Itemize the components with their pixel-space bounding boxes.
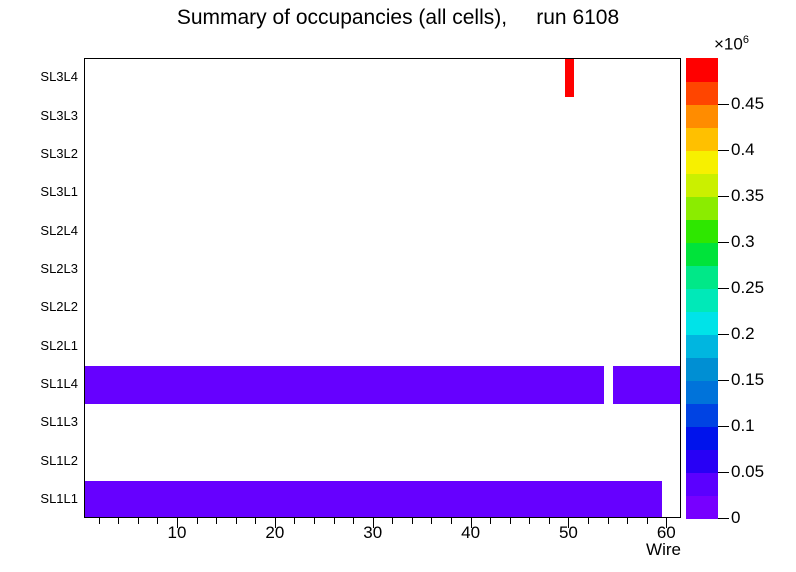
x-axis-tick-minor xyxy=(236,518,237,524)
z-axis-label-0_3: 0.3 xyxy=(731,232,755,252)
page-title: Summary of occupancies (all cells), run … xyxy=(0,6,796,30)
z-axis-tick xyxy=(718,196,729,197)
y-axis-label-sl3l2: SL3L2 xyxy=(0,146,78,161)
x-axis-label-40: 40 xyxy=(441,523,501,543)
heatmap-cell-sl1l4-1 xyxy=(85,366,604,404)
color-bar-band-2 xyxy=(686,449,718,473)
color-bar-band-4 xyxy=(686,403,718,427)
y-axis-label-sl1l4: SL1L4 xyxy=(0,376,78,391)
x-axis-tick-minor xyxy=(138,518,139,524)
color-bar-band-8 xyxy=(686,311,718,335)
x-axis-tick-minor xyxy=(608,518,609,524)
color-bar-band-14 xyxy=(686,173,718,197)
color-bar-band-15 xyxy=(686,150,718,174)
x-axis-label-10: 10 xyxy=(147,523,207,543)
x-axis-tick-minor xyxy=(510,518,511,524)
y-axis-label-sl2l4: SL2L4 xyxy=(0,223,78,238)
z-axis-label-0_1: 0.1 xyxy=(731,416,755,436)
x-axis-label-20: 20 xyxy=(245,523,305,543)
x-axis-tick-minor xyxy=(118,518,119,524)
y-axis-label-sl2l1: SL2L1 xyxy=(0,338,78,353)
z-axis-tick xyxy=(718,104,729,105)
z-axis-tick xyxy=(718,426,729,427)
x-axis-tick-minor xyxy=(529,518,530,524)
z-axis-tick xyxy=(718,472,729,473)
z-axis-tick xyxy=(718,518,729,519)
y-axis-label-sl3l4: SL3L4 xyxy=(0,69,78,84)
z-exponent-prefix: ×10 xyxy=(714,35,743,54)
x-axis-tick-minor xyxy=(314,518,315,524)
color-bar-band-1 xyxy=(686,472,718,496)
z-axis-label-0_4: 0.4 xyxy=(731,140,755,160)
x-axis-tick-minor xyxy=(99,518,100,524)
color-bar-band-6 xyxy=(686,357,718,381)
x-axis-tick-minor xyxy=(412,518,413,524)
color-bar-band-9 xyxy=(686,288,718,312)
color-bar-band-11 xyxy=(686,242,718,266)
x-axis-title: Wire xyxy=(611,540,681,560)
color-bar xyxy=(686,58,718,518)
z-axis-tick xyxy=(718,150,729,151)
heatmap-cell-sl1l1-0 xyxy=(85,481,662,517)
color-bar-band-18 xyxy=(686,81,718,105)
z-axis-label-0_25: 0.25 xyxy=(731,278,764,298)
y-axis-label-sl1l3: SL1L3 xyxy=(0,414,78,429)
color-bar-band-12 xyxy=(686,219,718,243)
z-exponent-value: 6 xyxy=(743,34,749,46)
root-canvas: Summary of occupancies (all cells), run … xyxy=(0,0,796,572)
y-axis-label-sl2l2: SL2L2 xyxy=(0,299,78,314)
plot-frame xyxy=(84,58,681,518)
y-axis-label-sl1l1: SL1L1 xyxy=(0,491,78,506)
plot-area xyxy=(85,59,680,517)
heatmap-cell-sl3l4-3 xyxy=(565,59,575,97)
color-bar-band-17 xyxy=(686,104,718,128)
y-axis-label-sl2l3: SL2L3 xyxy=(0,261,78,276)
color-bar-band-10 xyxy=(686,265,718,289)
z-axis-exponent: ×106 xyxy=(714,34,749,55)
x-axis-tick-minor xyxy=(431,518,432,524)
z-axis-tick xyxy=(718,288,729,289)
z-axis-tick xyxy=(718,242,729,243)
z-axis-label-0_2: 0.2 xyxy=(731,324,755,344)
z-axis-tick xyxy=(718,380,729,381)
color-bar-band-3 xyxy=(686,426,718,450)
color-bar-band-19 xyxy=(686,58,718,82)
y-axis-label-sl3l3: SL3L3 xyxy=(0,108,78,123)
x-axis-label-50: 50 xyxy=(538,523,598,543)
color-bar-band-5 xyxy=(686,380,718,404)
z-axis-label-0_35: 0.35 xyxy=(731,186,764,206)
z-axis-tick xyxy=(718,334,729,335)
x-axis-tick-minor xyxy=(334,518,335,524)
color-bar-band-0 xyxy=(686,495,718,519)
z-axis-label-0_05: 0.05 xyxy=(731,462,764,482)
color-bar-band-13 xyxy=(686,196,718,220)
color-bar-band-7 xyxy=(686,334,718,358)
x-axis-tick-minor xyxy=(216,518,217,524)
x-axis-label-30: 30 xyxy=(343,523,403,543)
z-axis-label-0: 0 xyxy=(731,508,740,528)
z-axis-label-0_15: 0.15 xyxy=(731,370,764,390)
y-axis-label-sl1l2: SL1L2 xyxy=(0,453,78,468)
heatmap-cell-sl1l4-2 xyxy=(613,366,680,404)
z-axis-label-0_45: 0.45 xyxy=(731,94,764,114)
color-bar-band-16 xyxy=(686,127,718,151)
x-axis-tick-minor xyxy=(627,518,628,524)
y-axis-label-sl3l1: SL3L1 xyxy=(0,184,78,199)
